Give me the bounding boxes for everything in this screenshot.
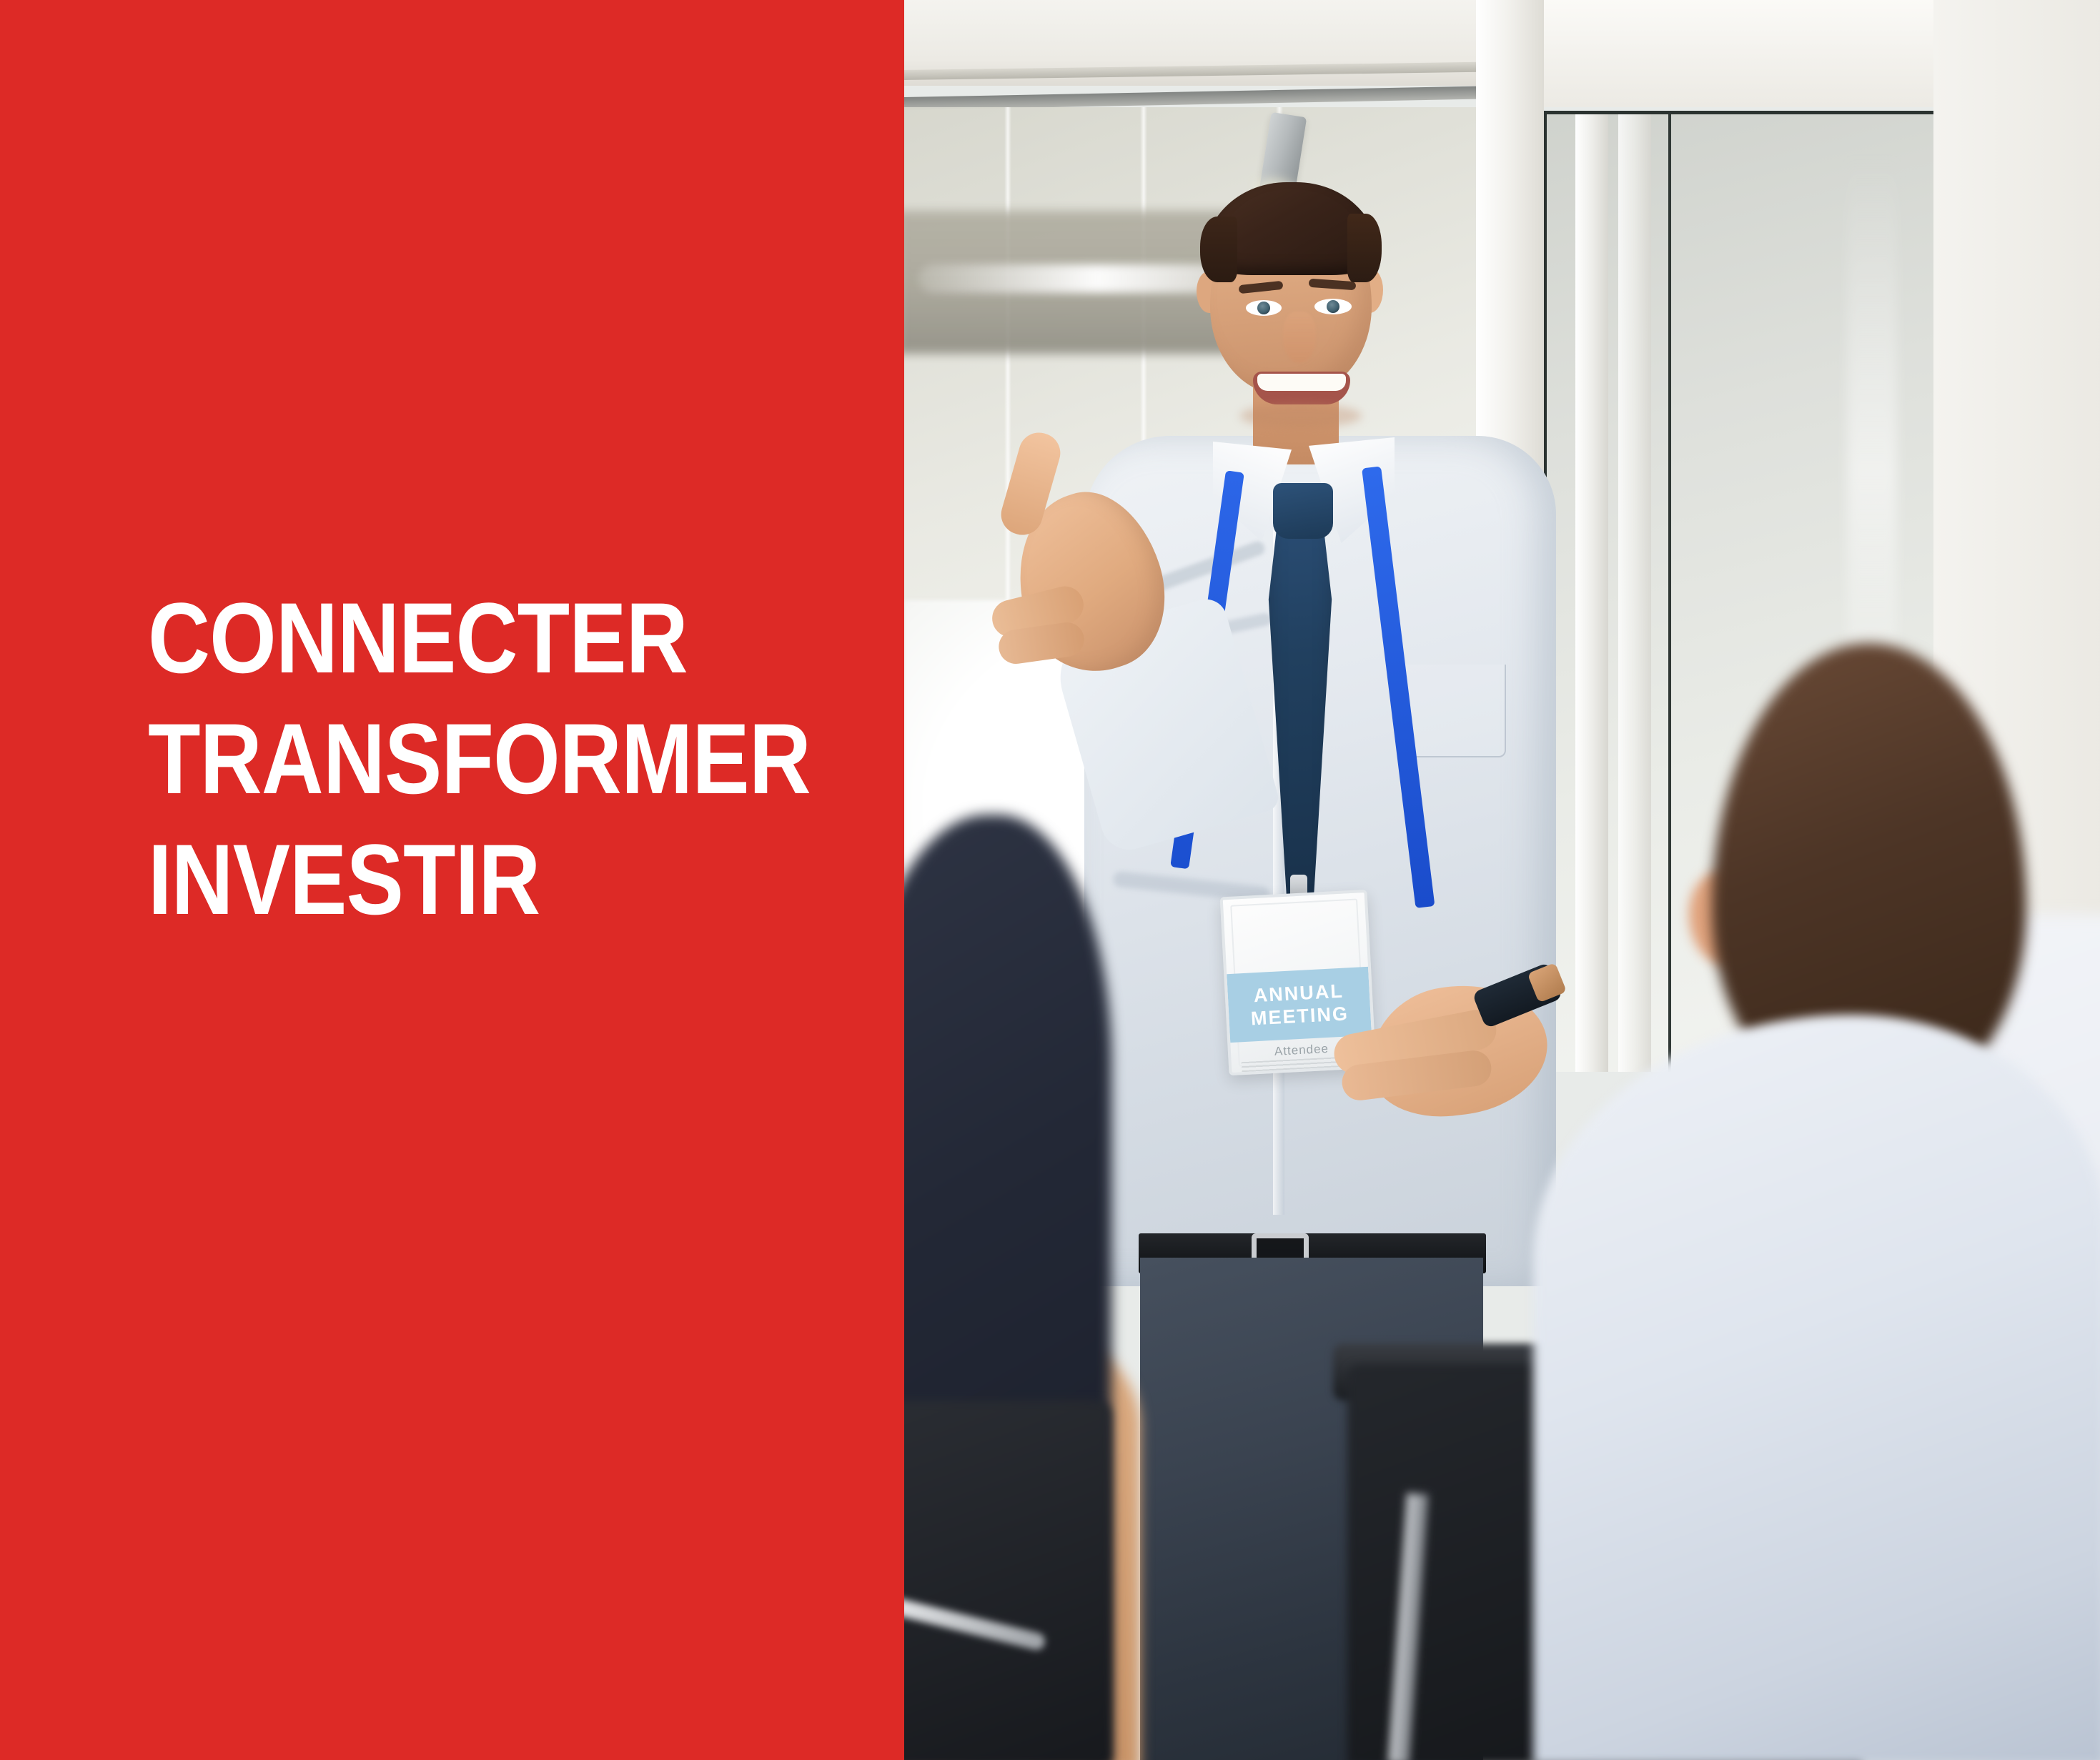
chin-shadow bbox=[1240, 404, 1362, 428]
audience-right-body bbox=[1533, 1015, 2100, 1760]
eye bbox=[1246, 300, 1282, 316]
badge-title-band: ANNUAL MEETING bbox=[1227, 967, 1372, 1043]
smiling-mouth bbox=[1253, 372, 1350, 404]
conference-photograph: ANNUAL MEETING Attendee bbox=[904, 0, 2100, 1760]
headline-line-2: TRANSFORMER bbox=[148, 698, 781, 819]
badge-title-line-2: MEETING bbox=[1250, 1002, 1349, 1030]
headline-block: CONNECTER TRANSFORMER INVESTIR bbox=[148, 577, 884, 940]
eye bbox=[1314, 299, 1352, 314]
nose bbox=[1283, 312, 1316, 363]
headline-line-3: INVESTIR bbox=[148, 819, 781, 940]
red-accent-panel: CONNECTER TRANSFORMER INVESTIR bbox=[0, 0, 904, 1760]
teeth bbox=[1257, 374, 1346, 391]
poster-canvas: CONNECTER TRANSFORMER INVESTIR bbox=[0, 0, 2100, 1760]
chair-left bbox=[904, 1401, 1111, 1760]
necktie-knot bbox=[1273, 483, 1333, 539]
hair bbox=[1204, 182, 1379, 275]
headline-line-1: CONNECTER bbox=[148, 577, 781, 698]
